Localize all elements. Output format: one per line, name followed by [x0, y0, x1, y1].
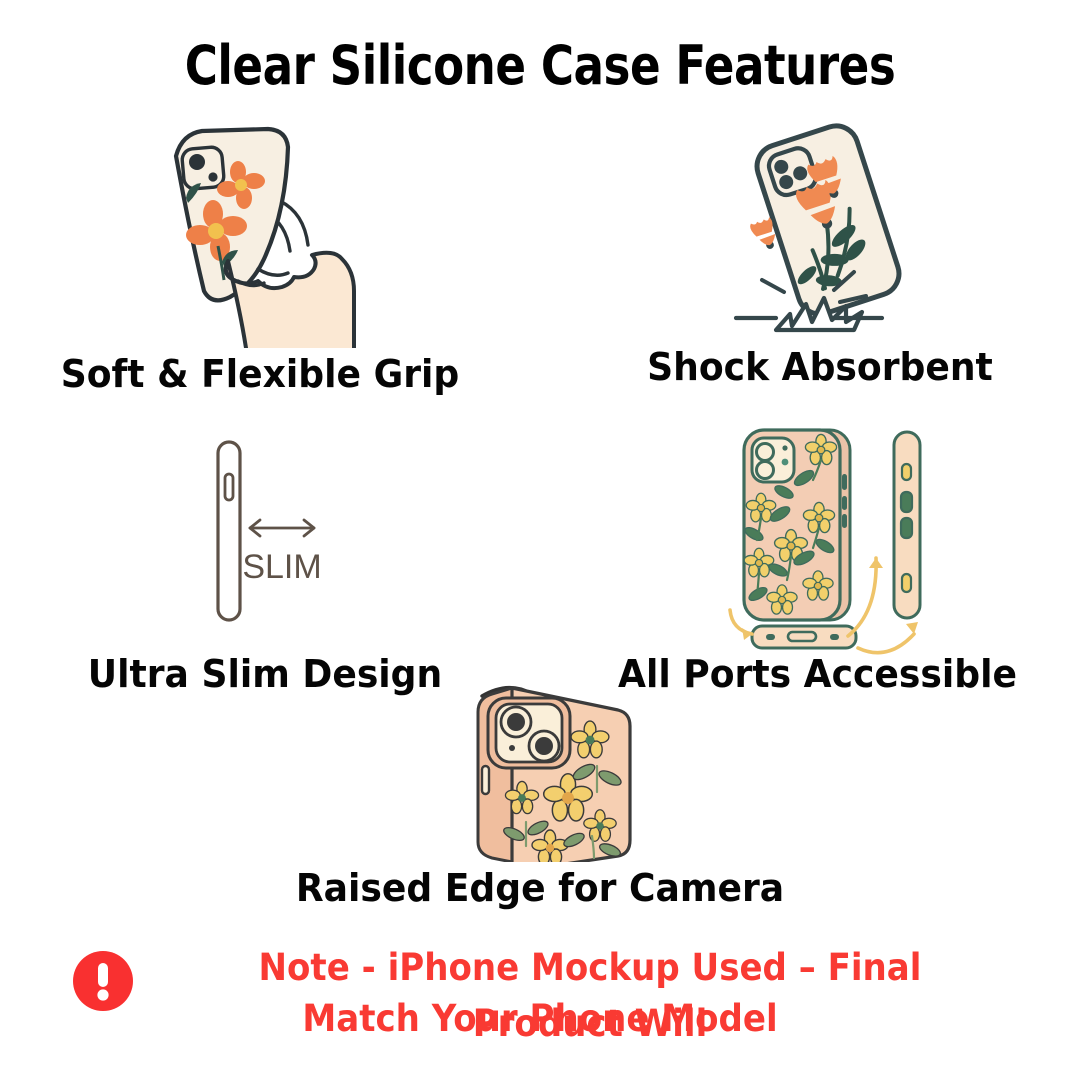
hand-flexing-phone-case-icon	[140, 118, 380, 348]
page-title: Clear Silicone Case Features	[38, 34, 1042, 97]
shock-absorbent-illustration	[718, 120, 943, 345]
phone-case-impact-burst-icon	[718, 120, 943, 345]
feature-label-shock-absorbent: Shock Absorbent	[573, 345, 1067, 389]
note-line-2: Match Your Phone Model	[43, 997, 1037, 1040]
bottom-edge-ports	[752, 626, 856, 648]
raised-edge-camera-illustration	[452, 662, 657, 862]
slim-caption: SLIM	[242, 548, 321, 586]
side-button-icon	[225, 474, 233, 500]
soft-flexible-grip-illustration	[140, 118, 380, 348]
side-edge-view	[894, 432, 920, 618]
feature-label-soft-flexible-grip: Soft & Flexible Grip	[13, 352, 507, 396]
all-ports-accessible-illustration	[708, 418, 943, 658]
note-banner: Note - iPhone Mockup Used – Final Produc…	[0, 940, 1080, 1060]
infographic-canvas: Clear Silicone Case Features	[0, 0, 1080, 1080]
ultra-slim-design-illustration: SLIM	[188, 428, 373, 633]
phone-case-raised-camera-edge-icon	[452, 662, 657, 862]
feature-label-raised-edge-for-camera: Raised Edge for Camera	[198, 866, 882, 910]
feature-label-ultra-slim-design: Ultra Slim Design	[13, 652, 517, 696]
phone-case-ports-cutouts-icon	[708, 418, 943, 658]
phone-side-profile-slim-icon: SLIM	[188, 428, 373, 633]
